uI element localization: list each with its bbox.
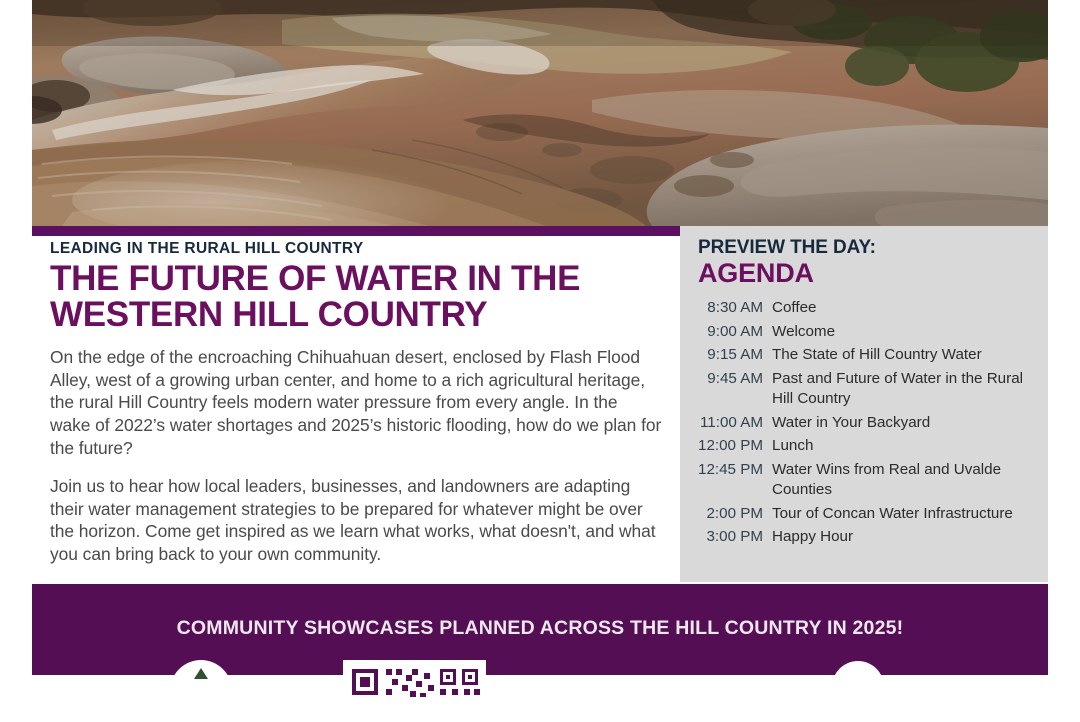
agenda-item: Welcome [772, 322, 1032, 346]
agenda-row: 9:15 AM The State of Hill Country Water [698, 345, 1032, 369]
tree-glyph-icon [194, 668, 208, 679]
bottom-banner: COMMUNITY SHOWCASES PLANNED ACROSS THE H… [32, 584, 1048, 675]
hero-photo [32, 0, 1048, 226]
agenda-item: Tour of Concan Water Infrastructure [772, 504, 1032, 528]
agenda-kicker: PREVIEW THE DAY: [698, 238, 1032, 259]
agenda-item: Water Wins from Real and Uvalde Counties [772, 460, 1032, 504]
purple-divider-rule [32, 226, 680, 236]
agenda-title: AGENDA [698, 259, 1032, 289]
agenda-row: 2:00 PM Tour of Concan Water Infrastruct… [698, 504, 1032, 528]
qr-code-icon [343, 660, 486, 702]
left-content-column: LEADING IN THE RURAL HILL COUNTRY THE FU… [50, 240, 662, 565]
hero-photo-illustration [32, 0, 1048, 226]
agenda-time: 12:00 PM [698, 436, 772, 460]
agenda-row: 9:45 AM Past and Future of Water in the … [698, 369, 1032, 413]
agenda-time: 8:30 AM [698, 298, 772, 322]
body-paragraph-1: On the edge of the encroaching Chihuahua… [50, 346, 662, 459]
agenda-item: The State of Hill Country Water [772, 345, 1032, 369]
agenda-item: Happy Hour [772, 527, 1032, 551]
agenda-time: 3:00 PM [698, 527, 772, 551]
agenda-item: Water in Your Backyard [772, 413, 1032, 437]
agenda-row: 3:00 PM Happy Hour [698, 527, 1032, 551]
page-title: THE FUTURE OF WATER IN THE WESTERN HILL … [50, 261, 662, 332]
agenda-row: 12:45 PM Water Wins from Real and Uvalde… [698, 460, 1032, 504]
banner-headline: COMMUNITY SHOWCASES PLANNED ACROSS THE H… [32, 617, 1048, 640]
agenda-row: 12:00 PM Lunch [698, 436, 1032, 460]
agenda-time: 9:15 AM [698, 345, 772, 369]
agenda-row: 9:00 AM Welcome [698, 322, 1032, 346]
body-paragraph-2: Join us to hear how local leaders, busin… [50, 475, 662, 565]
agenda-time: 2:00 PM [698, 504, 772, 528]
agenda-list: 8:30 AM Coffee 9:00 AM Welcome 9:15 AM T… [698, 298, 1032, 551]
agenda-item: Lunch [772, 436, 1032, 460]
agenda-time: 11:00 AM [698, 413, 772, 437]
agenda-time: 9:45 AM [698, 369, 772, 413]
agenda-item: Past and Future of Water in the Rural Hi… [772, 369, 1032, 413]
agenda-item: Coffee [772, 298, 1032, 322]
agenda-row: 11:00 AM Water in Your Backyard [698, 413, 1032, 437]
agenda-time: 12:45 PM [698, 460, 772, 504]
agenda-time: 9:00 AM [698, 322, 772, 346]
agenda-row: 8:30 AM Coffee [698, 298, 1032, 322]
flyer-page: LEADING IN THE RURAL HILL COUNTRY THE FU… [0, 0, 1080, 675]
circle-badge-icon [832, 661, 884, 713]
qr-code-pattern [348, 665, 481, 697]
eyebrow-text: LEADING IN THE RURAL HILL COUNTRY [50, 240, 662, 257]
agenda-panel: PREVIEW THE DAY: AGENDA 8:30 AM Coffee 9… [680, 226, 1048, 582]
